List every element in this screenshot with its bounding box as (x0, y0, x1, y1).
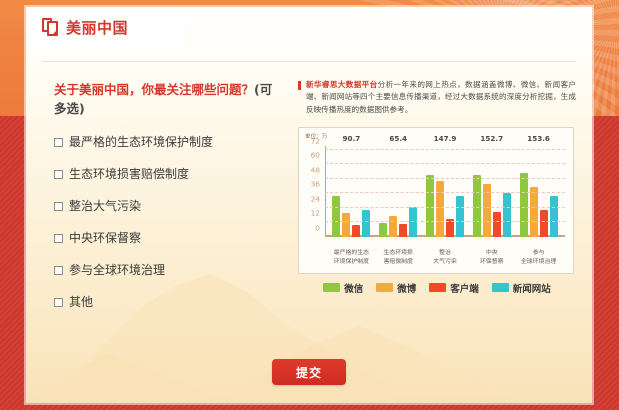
chart-x-label-2: 整治大气污染 (422, 249, 469, 267)
chart-bar-2-3 (456, 196, 464, 236)
page-root: 美丽中国 关于美丽中国，你最关注哪些问题？(可多选) 最严格的生态环境保护制度 … (0, 0, 619, 410)
chart-bar-0-0 (332, 196, 340, 236)
chart-y-tick-60: 60 (311, 151, 320, 160)
option-item-4[interactable]: 参与全球环境治理 (54, 263, 280, 278)
question-column: 关于美丽中国，你最关注哪些问题？(可多选) 最严格的生态环境保护制度 生态环境损… (54, 80, 280, 327)
chart-x-label-4: 参与全球环境治理 (515, 249, 562, 267)
chart-gridline-48 (325, 178, 565, 179)
chart-bar-3-2 (493, 212, 501, 237)
brand-title: 美丽中国 (66, 17, 128, 38)
chart-x-labels: 最严格的生态环境保护制度生态环境损害赔偿制度整治大气污染中央环保督察参与全球环境… (328, 249, 562, 267)
card-header: 美丽中国 (26, 7, 186, 48)
chart-total-label-0: 90.7 (343, 134, 361, 143)
option-item-3[interactable]: 中央环保督察 (54, 231, 280, 246)
chart-gridline-24 (325, 207, 565, 208)
chart-total-label-3: 152.7 (480, 134, 503, 143)
chart-legend: 微信微博客户端新闻网站 (298, 281, 576, 295)
chart-total-label-4: 153.6 (527, 134, 550, 143)
blurb-highlight: 新华睿思大数据平台 (306, 80, 378, 89)
legend-item-3[interactable]: 新闻网站 (492, 281, 551, 295)
chart-y-tick-12: 12 (311, 209, 320, 218)
chart-bar-4-1 (530, 187, 538, 237)
legend-label-2: 客户端 (450, 281, 479, 295)
legend-item-2[interactable]: 客户端 (429, 281, 479, 295)
chart-bar-2-1 (436, 181, 444, 237)
chart-bar-4-3 (550, 196, 558, 236)
chart-x-label-1: 生态环境损害赔偿制度 (375, 249, 422, 267)
chart-gridline-72 (325, 149, 565, 150)
chart-gridline-36 (325, 192, 565, 193)
option-item-0[interactable]: 最严格的生态环境保护制度 (54, 135, 280, 150)
option-label-4: 参与全球环境治理 (69, 263, 165, 278)
legend-item-1[interactable]: 微博 (376, 281, 416, 295)
chart-y-tick-48: 48 (311, 165, 320, 174)
option-item-1[interactable]: 生态环境损害赔偿制度 (54, 167, 280, 182)
option-list: 最严格的生态环境保护制度 生态环境损害赔偿制度 整治大气污染 中央环保督察 参与… (54, 135, 280, 310)
chart-bar-4-0 (520, 173, 528, 237)
legend-label-3: 新闻网站 (513, 281, 551, 295)
legend-swatch-3 (492, 283, 509, 292)
bar-chart: 单位：万 7260483624120 90.765.4147.9152.7153… (298, 127, 574, 274)
pages-icon (42, 18, 59, 37)
data-column: 新华睿思大数据平台分析一年来的网上热点，数据涵盖微博、微信、新闻客户端、新闻网站… (298, 79, 576, 295)
legend-label-0: 微信 (344, 281, 363, 295)
checkbox-1[interactable] (54, 170, 63, 179)
chart-y-tick-0: 0 (315, 223, 320, 232)
chart-y-tick-72: 72 (311, 136, 320, 145)
option-item-5[interactable]: 其他 (54, 295, 280, 310)
legend-swatch-0 (323, 283, 340, 292)
chart-y-tick-36: 36 (311, 180, 320, 189)
question-title: 关于美丽中国，你最关注哪些问题？(可多选) (54, 80, 280, 119)
chart-gridline-60 (325, 163, 565, 164)
chart-y-axis: 7260483624120 (299, 150, 323, 237)
survey-card: 美丽中国 关于美丽中国，你最关注哪些问题？(可多选) 最严格的生态环境保护制度 … (26, 7, 592, 403)
chart-bar-4-2 (540, 210, 548, 237)
legend-swatch-1 (376, 283, 393, 292)
blurb-text: 新华睿思大数据平台分析一年来的网上热点，数据涵盖微博、微信、新闻客户端、新闻网站… (298, 79, 576, 116)
legend-item-0[interactable]: 微信 (323, 281, 363, 295)
chart-bar-0-2 (352, 225, 360, 237)
header-divider (42, 61, 576, 62)
chart-total-label-2: 147.9 (434, 134, 457, 143)
chart-axis-vertical (325, 146, 326, 237)
checkbox-5[interactable] (54, 298, 63, 307)
chart-bar-0-3 (362, 210, 370, 237)
option-label-5: 其他 (69, 295, 93, 310)
question-title-line1: 关于美丽中国，你最关注哪些问 (54, 82, 229, 97)
legend-label-1: 微博 (397, 281, 416, 295)
checkbox-2[interactable] (54, 202, 63, 211)
chart-bar-0-1 (342, 213, 350, 237)
question-title-line2: 题？ (229, 82, 254, 97)
option-label-1: 生态环境损害赔偿制度 (69, 167, 189, 182)
option-label-2: 整治大气污染 (69, 199, 141, 214)
option-item-2[interactable]: 整治大气污染 (54, 199, 280, 214)
chart-gridline-12 (325, 221, 565, 222)
chart-y-tick-24: 24 (311, 194, 320, 203)
chart-total-label-1: 65.4 (389, 134, 407, 143)
chart-bar-1-0 (379, 223, 387, 237)
legend-swatch-2 (429, 283, 446, 292)
chart-x-label-0: 最严格的生态环境保护制度 (328, 249, 375, 267)
option-label-0: 最严格的生态环境保护制度 (69, 135, 213, 150)
checkbox-3[interactable] (54, 234, 63, 243)
chart-plot-area: 90.765.4147.9152.7153.6 (325, 150, 565, 237)
option-label-3: 中央环保督察 (69, 231, 141, 246)
chart-bar-1-1 (389, 216, 397, 237)
submit-button[interactable]: 提交 (272, 359, 346, 385)
checkbox-4[interactable] (54, 266, 63, 275)
checkbox-0[interactable] (54, 138, 63, 147)
chart-bar-1-2 (399, 224, 407, 237)
chart-bar-3-3 (503, 193, 511, 237)
chart-x-label-3: 中央环保督察 (468, 249, 515, 267)
